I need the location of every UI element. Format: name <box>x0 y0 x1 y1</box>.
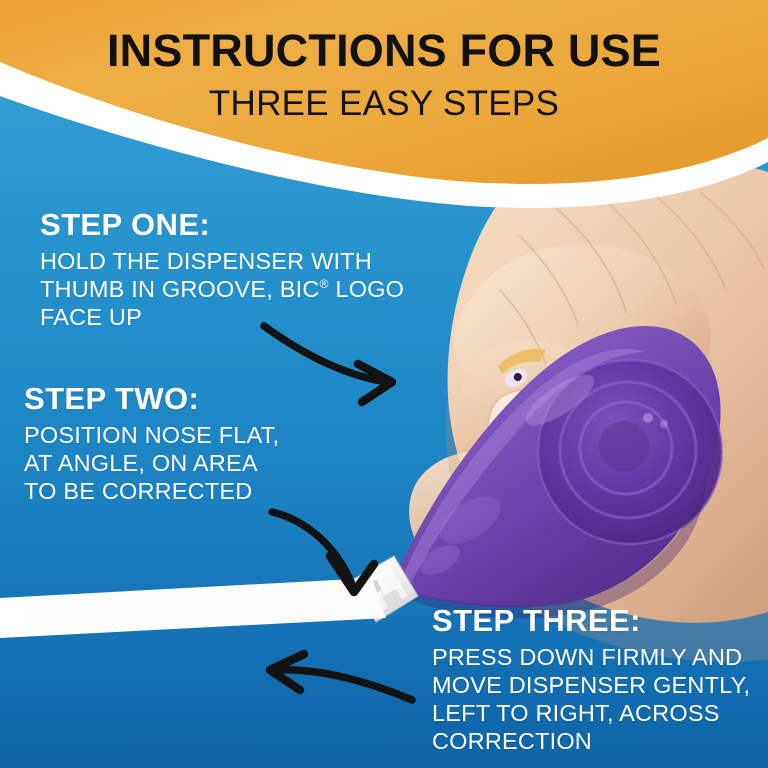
step-two-block: STEP TWO: POSITION NOSE FLAT, AT ANGLE, … <box>24 382 394 505</box>
step-one-body: HOLD THE DISPENSER WITHTHUMB IN GROOVE, … <box>40 247 440 332</box>
step-three-heading: STEP THREE: <box>432 604 762 639</box>
step-three-body: PRESS DOWN FIRMLY AND MOVE DISPENSER GEN… <box>432 643 762 756</box>
step-two-body: POSITION NOSE FLAT, AT ANGLE, ON AREA TO… <box>24 421 394 506</box>
step-one-heading: STEP ONE: <box>40 208 440 243</box>
step-one-line-2-b: LOGO <box>329 276 404 302</box>
instructions-poster: INSTRUCTIONS FOR USE THREE EASY STEPS ST… <box>0 0 768 768</box>
page-subtitle: THREE EASY STEPS <box>0 86 768 121</box>
registered-mark: ® <box>320 277 329 291</box>
step-one-line-3: FACE UP <box>40 304 142 330</box>
step-three-block: STEP THREE: PRESS DOWN FIRMLY AND MOVE D… <box>432 604 762 755</box>
step-one-line-1: HOLD THE DISPENSER WITH <box>40 248 372 274</box>
step-two-heading: STEP TWO: <box>24 382 394 417</box>
step-one-line-2-a: THUMB IN GROOVE, BIC <box>40 276 320 302</box>
page-title: INSTRUCTIONS FOR USE <box>0 28 768 73</box>
step-one-block: STEP ONE: HOLD THE DISPENSER WITHTHUMB I… <box>40 208 440 331</box>
